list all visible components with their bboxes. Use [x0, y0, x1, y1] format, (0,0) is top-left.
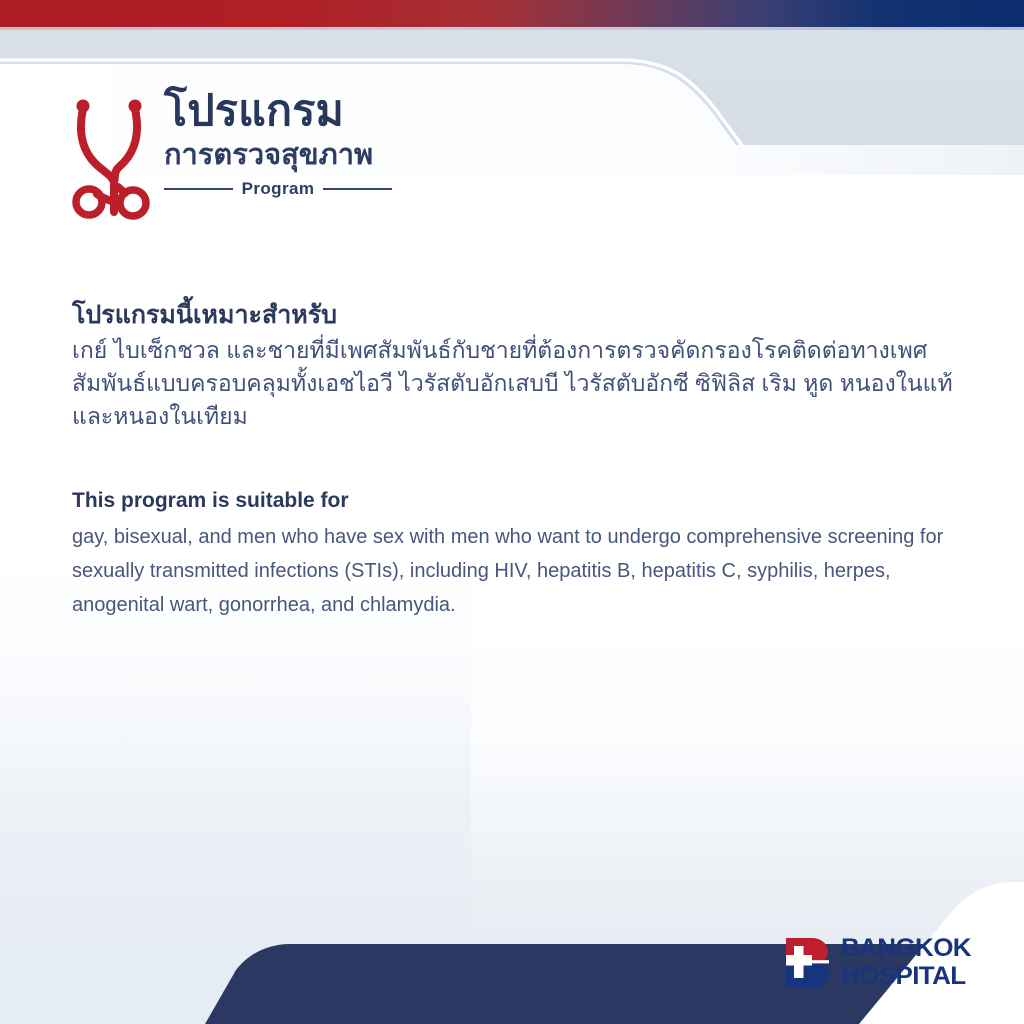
poster-canvas: โปรแกรม การตรวจสุขภาพ Program โปรแกรมนี้…	[0, 0, 1024, 1024]
brand-line-bangkok: BANGKOK	[841, 936, 971, 961]
english-copy-block: This program is suitable for gay, bisexu…	[72, 486, 972, 622]
program-logo-lockup: โปรแกรม การตรวจสุขภาพ Program	[72, 86, 402, 231]
thai-body-text: เกย์ ไบเซ็กชวล และชายที่มีเพศสัมพันธ์กับ…	[72, 334, 972, 433]
program-logo-text: โปรแกรม การตรวจสุขภาพ Program	[164, 86, 404, 199]
bangkok-hospital-cross-b-icon	[782, 936, 832, 988]
program-logo-thai-subtitle: การตรวจสุขภาพ	[164, 137, 404, 173]
footer-decorative-shape	[0, 804, 1024, 1024]
brand-line-hospital: HOSPITAL	[841, 964, 971, 989]
stethoscope-icon	[72, 90, 156, 220]
thai-copy-block: โปรแกรมนี้เหมาะสำหรับ เกย์ ไบเซ็กชวล และ…	[72, 298, 972, 433]
program-logo-thai-title: โปรแกรม	[164, 86, 404, 136]
program-word-row: Program	[164, 179, 392, 199]
top-gradient-banner	[0, 0, 1024, 27]
thai-heading: โปรแกรมนี้เหมาะสำหรับ	[72, 298, 972, 332]
english-heading: This program is suitable for	[72, 486, 972, 516]
bangkok-hospital-wordmark: BANGKOK HOSPITAL	[841, 936, 966, 989]
program-rule-right	[323, 188, 392, 190]
bangkok-hospital-logo: BANGKOK HOSPITAL	[782, 934, 982, 990]
program-rule-left	[164, 188, 233, 190]
english-body-text: gay, bisexual, and men who have sex with…	[72, 520, 972, 622]
program-word: Program	[242, 179, 315, 199]
